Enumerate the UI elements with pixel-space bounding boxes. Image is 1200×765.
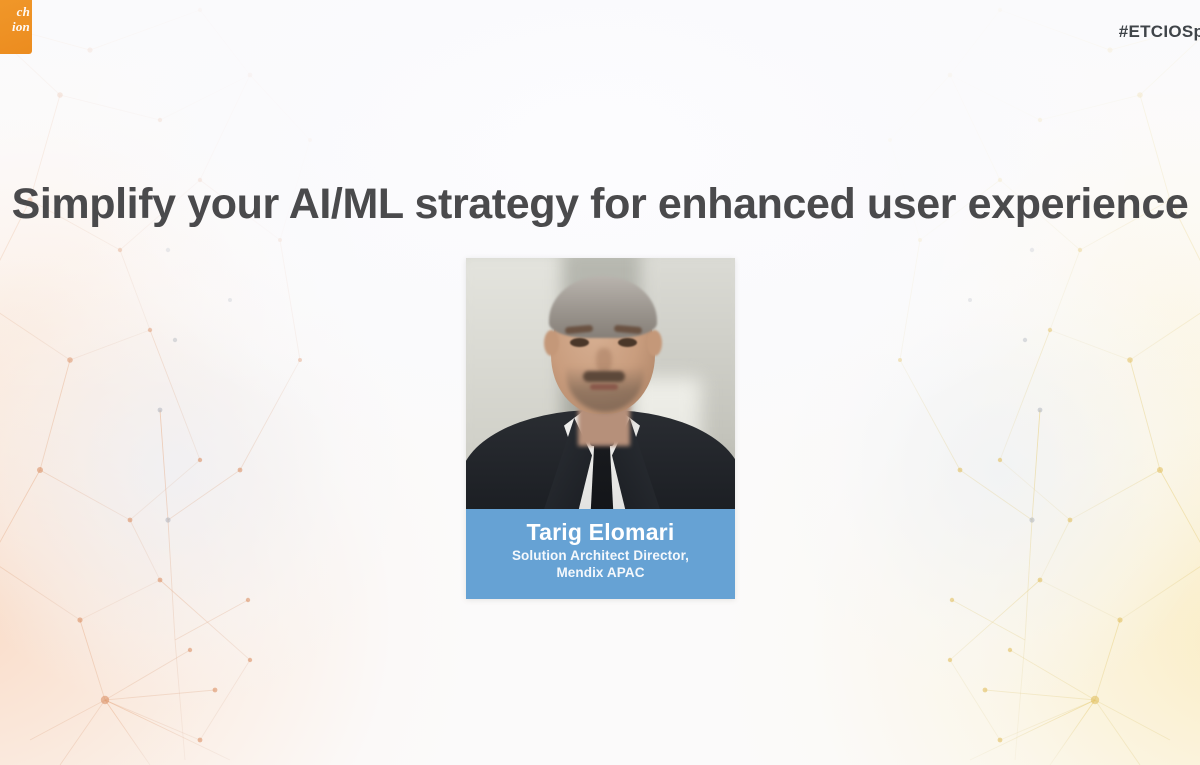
speaker-role-line-2: Mendix APAC (466, 564, 735, 581)
photo-ear-left (544, 330, 559, 356)
speaker-role-line-1: Solution Architect Director, (466, 547, 735, 564)
event-corner-badge: ch ion (0, 0, 32, 54)
speaker-card: Tarig Elomari Solution Architect Directo… (466, 258, 735, 599)
event-corner-badge-label: ch ion (0, 4, 30, 34)
speaker-name: Tarig Elomari (466, 518, 735, 547)
photo-eye-left (570, 338, 589, 347)
webinar-slide: ch ion #ETCIOSpe Simplify your AI/ML str… (0, 0, 1200, 765)
photo-eye-right (618, 338, 637, 347)
speaker-name-plate: Tarig Elomari Solution Architect Directo… (466, 509, 735, 599)
photo-mouth (590, 384, 618, 390)
photo-ear-right (647, 330, 662, 356)
event-hashtag: #ETCIOSpe (1119, 22, 1200, 42)
photo-moustache (583, 371, 625, 382)
page-title: Simplify your AI/ML strategy for enhance… (0, 180, 1200, 229)
